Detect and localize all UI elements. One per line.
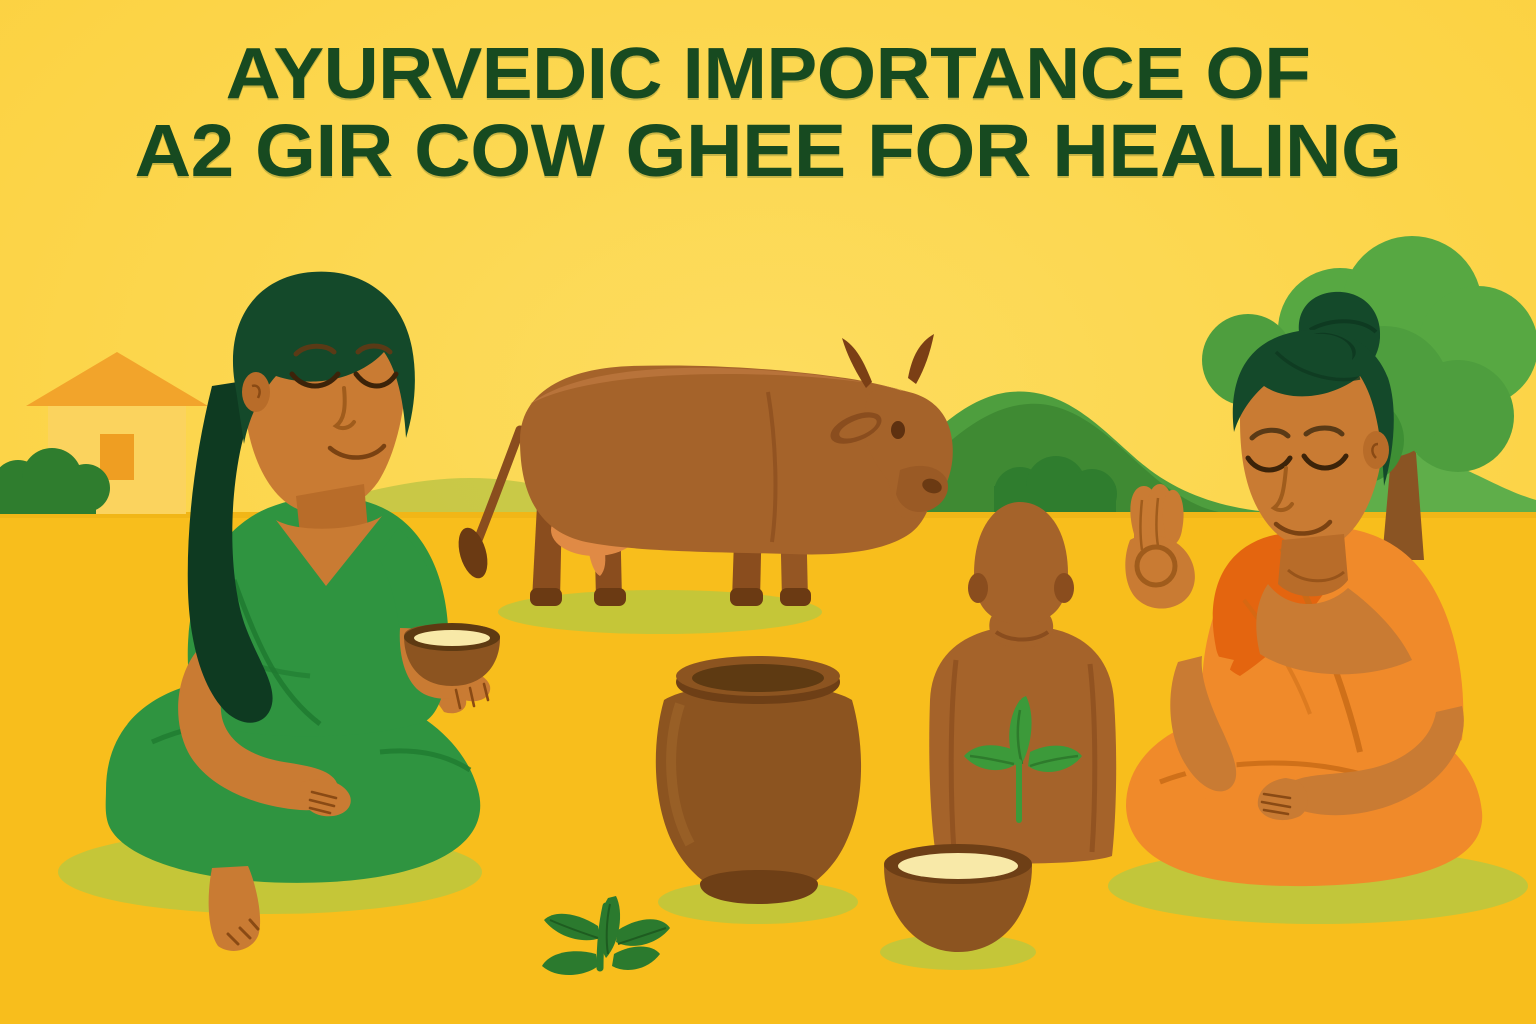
cow-eye	[891, 421, 905, 439]
ghee-bowl	[880, 844, 1036, 970]
illustration-scene	[0, 0, 1536, 1024]
woman-left-foot	[209, 866, 260, 951]
woman-right-ear	[1363, 431, 1389, 469]
ghee-bowl-contents	[898, 853, 1018, 879]
poster-canvas: AYURVEDIC IMPORTANCE OF A2 GIR COW GHEE …	[0, 0, 1536, 1024]
woman-left-ear	[242, 372, 270, 412]
